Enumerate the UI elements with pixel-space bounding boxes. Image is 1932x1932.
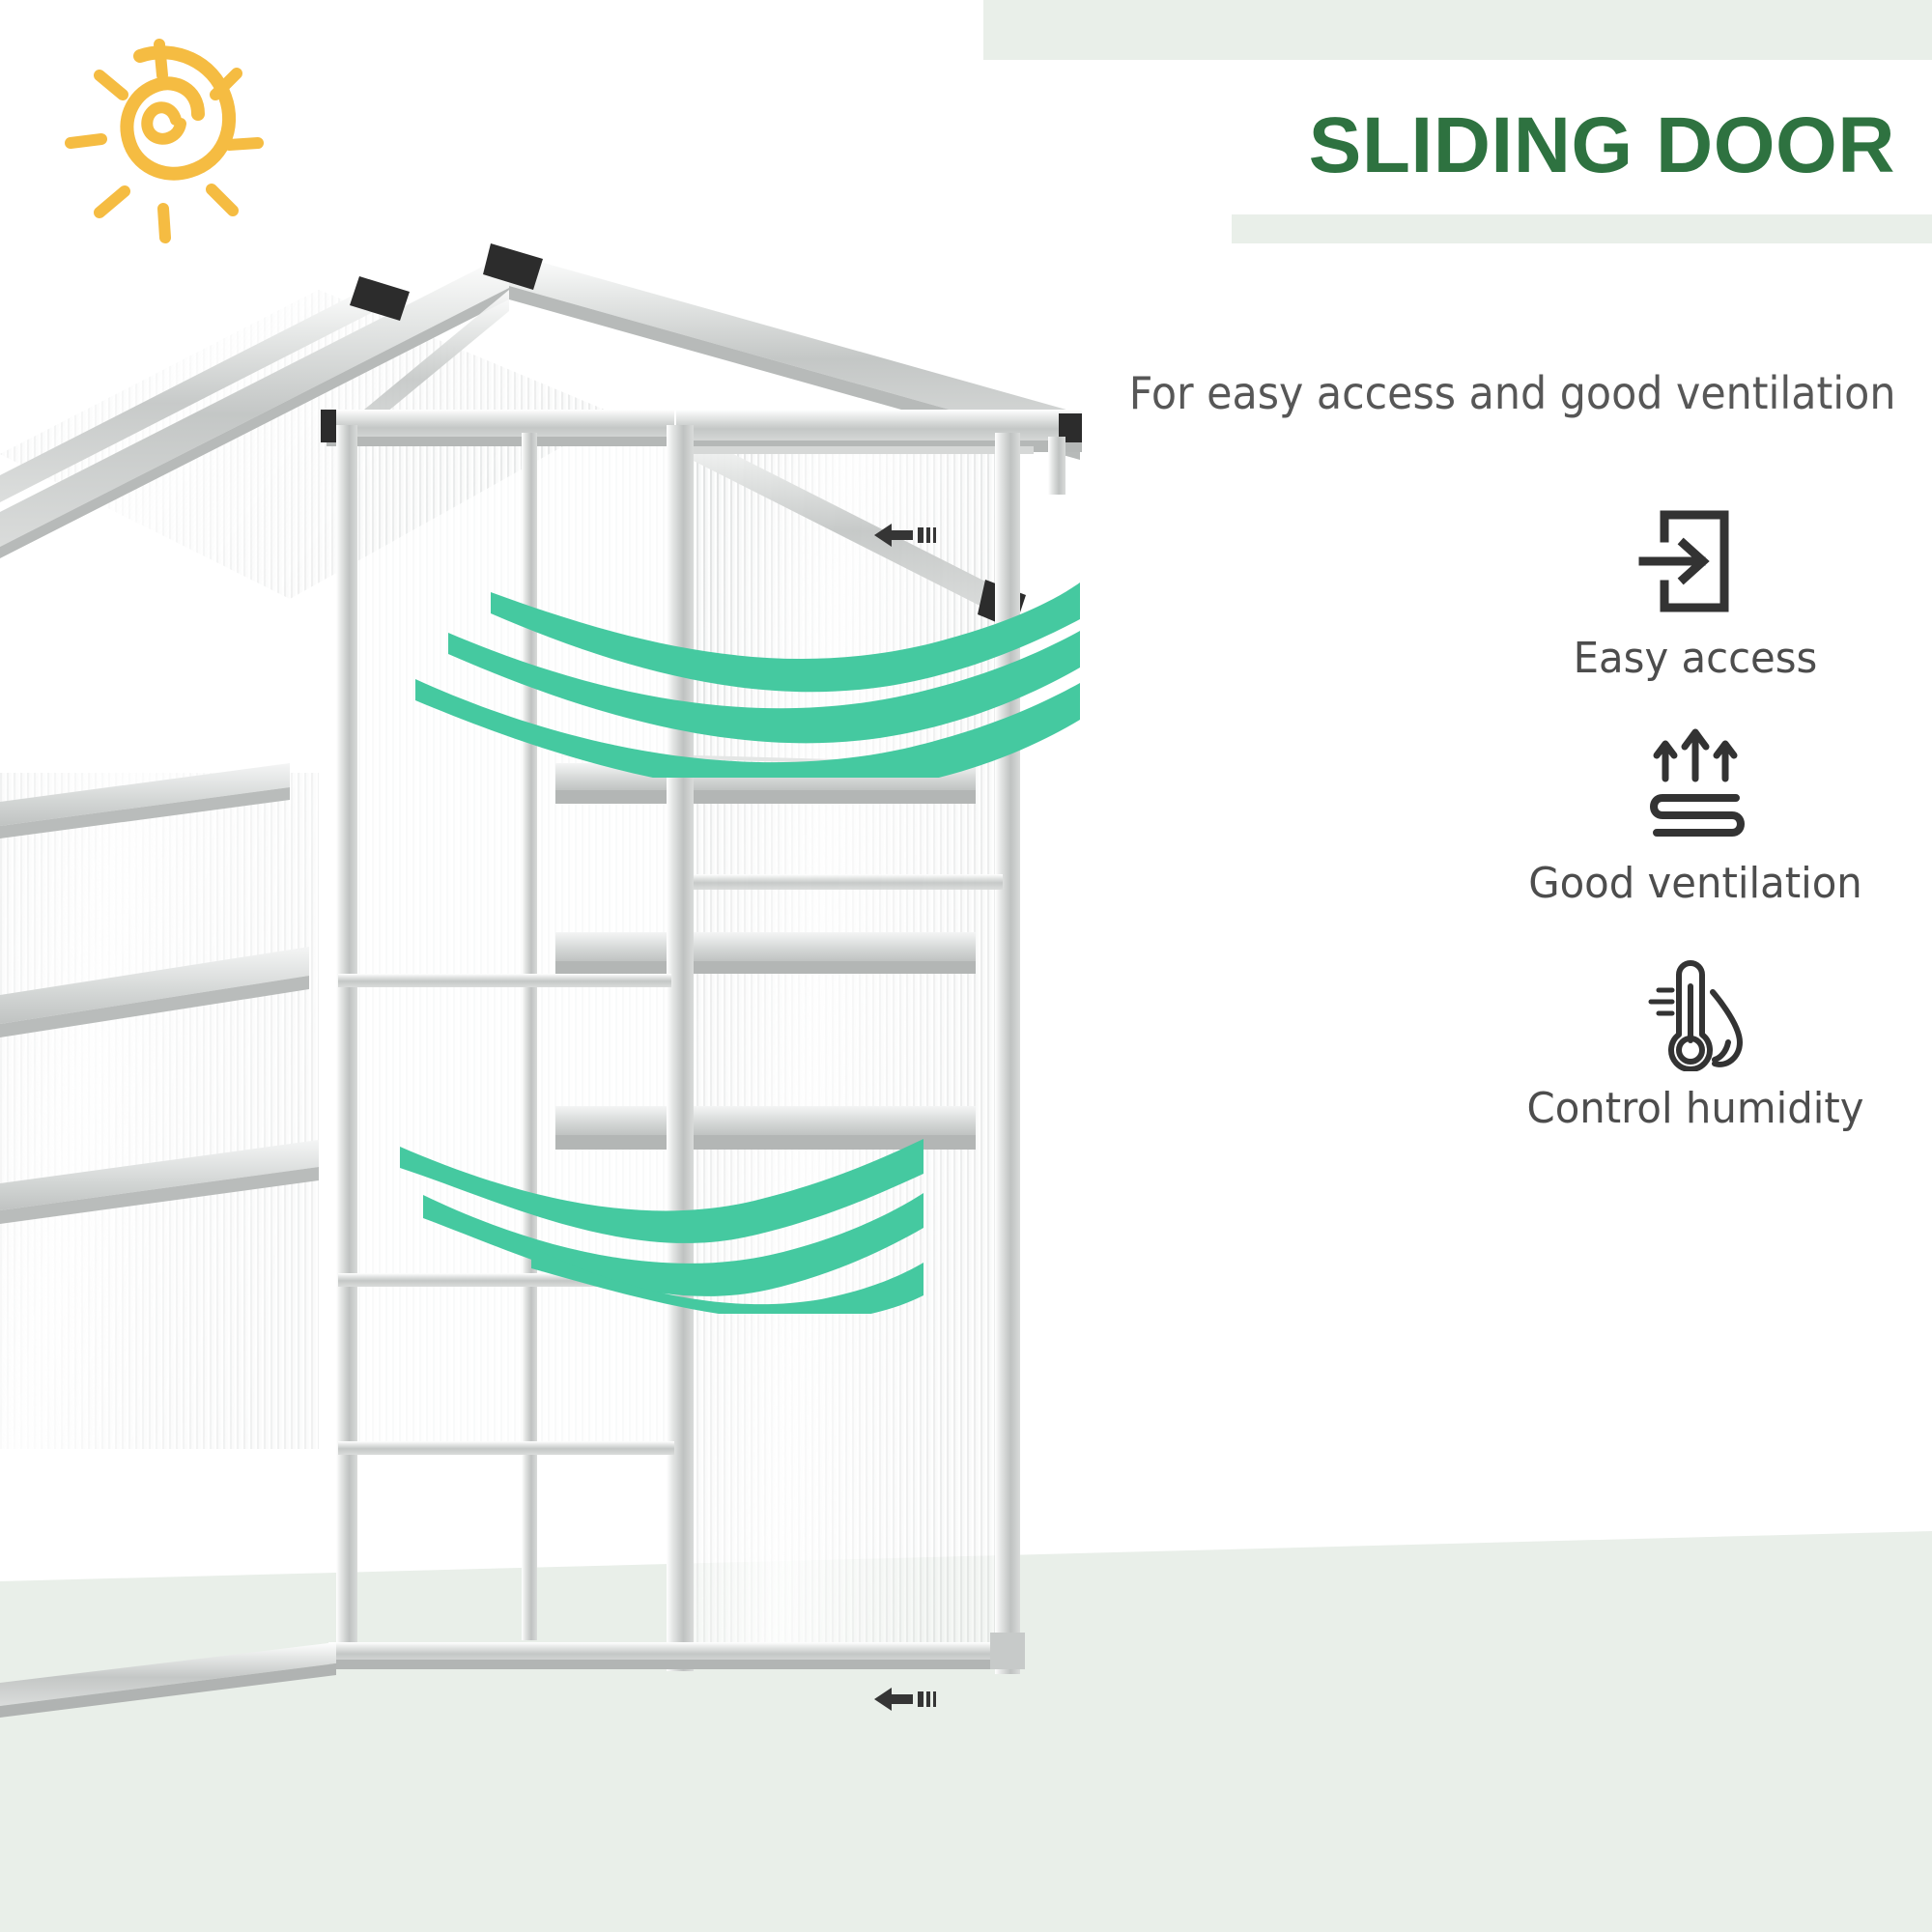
feature-item-humidity: Control humidity [1488,952,1903,1133]
feature-label: Easy access [1498,634,1893,683]
infographic-canvas: SLIDING DOOR For easy access and good ve… [0,0,1932,1932]
slide-direction-arrow-top [874,522,936,549]
slide-direction-arrow-bottom [874,1686,936,1713]
door-enter-icon [1488,502,1903,620]
air-ventilation-icon [1488,727,1903,845]
feature-label: Good ventilation [1498,859,1893,908]
feature-list: Easy access Good ventilation [1488,502,1903,1178]
page-subtitle: For easy access and good ventilation [1128,367,1895,419]
thermometer-droplet-icon [1488,952,1903,1070]
sun-spiral-icon [53,39,266,246]
feature-item-ventilation: Good ventilation [1488,727,1903,908]
feature-label: Control humidity [1498,1084,1893,1133]
decorative-band-accent [1232,214,1932,243]
page-title: SLIDING DOOR [1309,106,1895,185]
product-image [0,0,1169,1758]
feature-item-easy-access: Easy access [1488,502,1903,683]
